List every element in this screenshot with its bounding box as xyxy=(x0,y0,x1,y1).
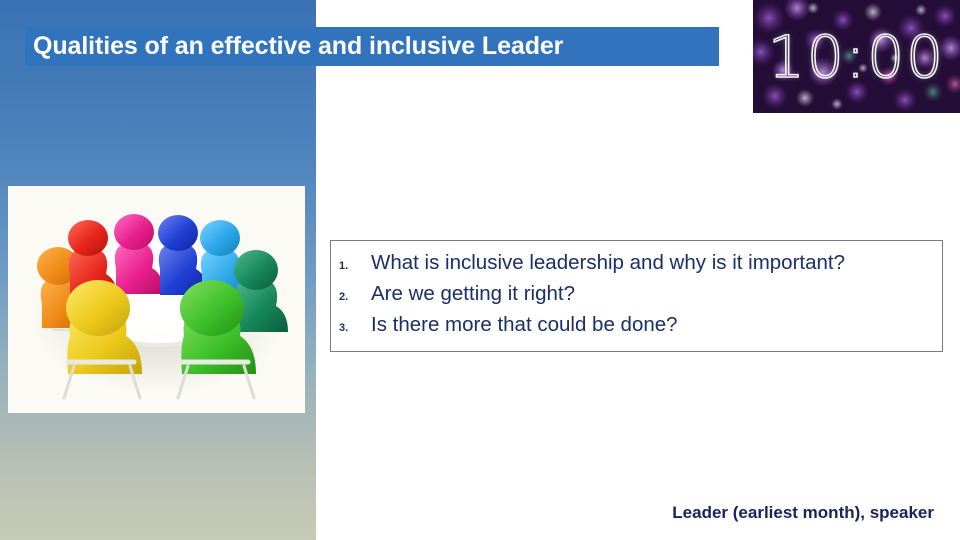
list-item: 3. Is there more that could be done? xyxy=(331,313,942,344)
title-banner: Qualities of an effective and inclusive … xyxy=(25,27,719,66)
questions-box: 1. What is inclusive leadership and why … xyxy=(330,240,943,352)
list-item: 2. Are we getting it right? xyxy=(331,282,942,313)
page-title: Qualities of an effective and inclusive … xyxy=(25,34,563,59)
questions-list: 1. What is inclusive leadership and why … xyxy=(331,241,942,344)
countdown-timer-image: 10:00 xyxy=(753,0,960,113)
slide-canvas: Qualities of an effective and inclusive … xyxy=(0,0,960,540)
list-item: 1. What is inclusive leadership and why … xyxy=(331,251,942,282)
footer-credit: Leader (earliest month), speaker xyxy=(0,503,934,523)
list-item-number: 2. xyxy=(331,291,371,303)
list-item-number: 3. xyxy=(331,322,371,334)
list-item-label: What is inclusive leadership and why is … xyxy=(371,251,845,275)
meeting-photo xyxy=(8,186,305,413)
meeting-photo-illustration xyxy=(8,186,305,413)
list-item-label: Are we getting it right? xyxy=(371,282,575,306)
list-item-number: 1. xyxy=(331,260,371,272)
list-item-label: Is there more that could be done? xyxy=(371,313,678,337)
timer-readout: 10:00 xyxy=(753,0,960,113)
